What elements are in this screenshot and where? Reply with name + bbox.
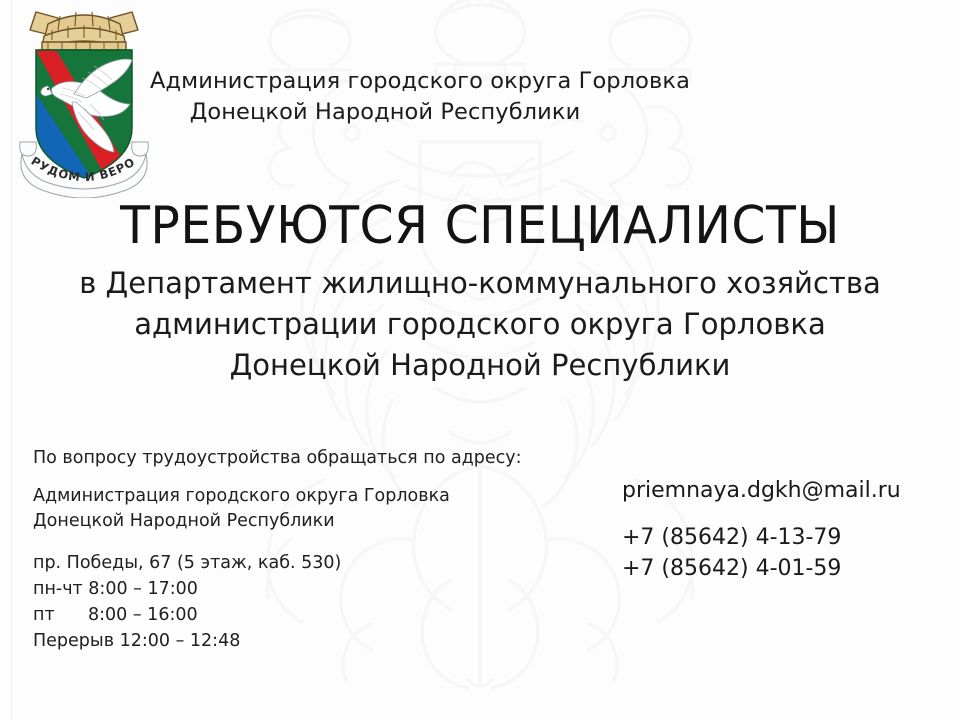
- subtitle: в Департамент жилищно-коммунального хозя…: [7, 263, 953, 386]
- contact-phone-2[interactable]: +7 (85642) 4-01-59: [622, 553, 932, 584]
- contact-organization: Администрация городского округа Горловка…: [33, 484, 573, 534]
- coat-of-arms-icon: ТРУДОМ И ВЕРОЙ: [14, 2, 154, 198]
- contact-schedule: пр. Победы, 67 (5 этаж, каб. 530) пн-чт …: [33, 550, 573, 654]
- header-line-1: Администрация городского округа Горловка: [150, 66, 620, 97]
- contact-block-right: priemnaya.dgkh@mail.ru +7 (85642) 4-13-7…: [622, 476, 932, 584]
- contact-org-line-1: Администрация городского округа Горловка: [33, 484, 573, 509]
- subtitle-line-3: Донецкой Народной Республики: [7, 345, 953, 386]
- header-line-2: Донецкой Народной Республики: [150, 97, 620, 128]
- title-block: ТРЕБУЮТСЯ СПЕЦИАЛИСТЫ в Департамент жили…: [0, 196, 960, 386]
- contact-address: пр. Победы, 67 (5 этаж, каб. 530): [33, 550, 573, 576]
- page-header: ТРУДОМ И ВЕРОЙ Администрация городского …: [0, 0, 960, 200]
- schedule-break: Перерыв 12:00 – 12:48: [33, 628, 573, 654]
- schedule-friday: пт 8:00 – 16:00: [33, 602, 573, 628]
- schedule-mon-thu: пн-чт 8:00 – 17:00: [33, 576, 573, 602]
- announcement-slide: ТРУДОМ И ВЕРОЙ Администрация городского …: [0, 0, 960, 720]
- contact-phone-1[interactable]: +7 (85642) 4-13-79: [622, 522, 932, 553]
- contact-org-line-2: Донецкой Народной Республики: [33, 509, 573, 534]
- contact-email[interactable]: priemnaya.dgkh@mail.ru: [622, 476, 932, 506]
- subtitle-line-1: в Департамент жилищно-коммунального хозя…: [7, 263, 953, 304]
- main-title: ТРЕБУЮТСЯ СПЕЦИАЛИСТЫ: [29, 196, 931, 256]
- contact-block-left: По вопросу трудоустройства обращаться по…: [33, 446, 573, 654]
- header-title: Администрация городского округа Горловка…: [150, 66, 620, 128]
- subtitle-line-2: администрации городского округа Горловка: [7, 304, 953, 345]
- contact-lead: По вопросу трудоустройства обращаться по…: [33, 446, 573, 470]
